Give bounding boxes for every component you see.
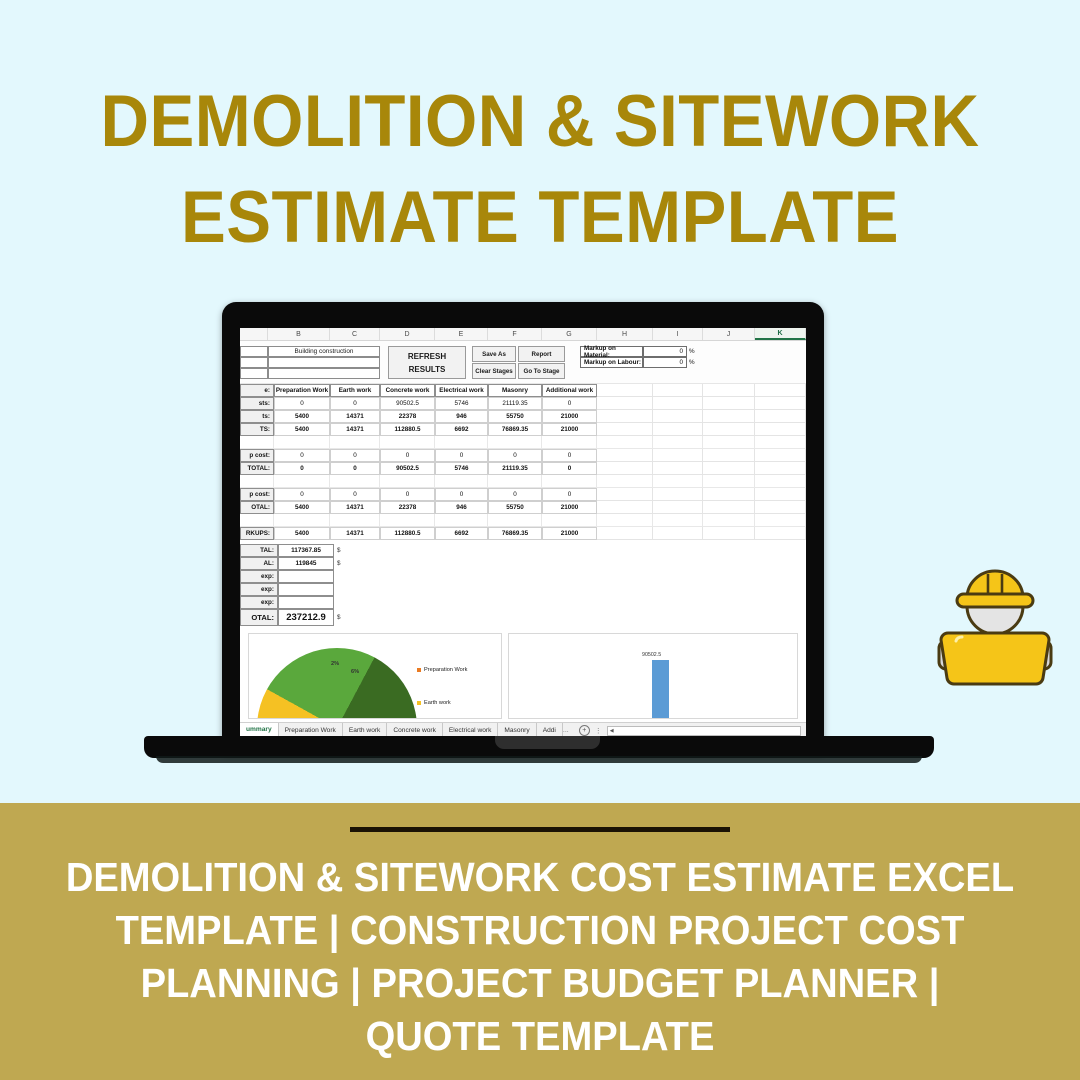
- table-cell[interactable]: 0: [274, 488, 330, 501]
- table-cell-empty[interactable]: [597, 475, 653, 488]
- caption-line-1: DEMOLITION & SITEWORK COST ESTIMATE EXCE…: [38, 851, 1042, 904]
- table-cell-empty[interactable]: [703, 462, 755, 475]
- markup-material-label: Markup on Material:: [580, 346, 643, 357]
- horizontal-scrollbar[interactable]: ◀: [607, 726, 801, 736]
- stage-header-prep: Preparation Work: [274, 384, 330, 397]
- table-cell[interactable]: 0: [274, 462, 330, 475]
- table-cell[interactable]: 5400: [274, 423, 330, 436]
- construction-worker-laptop-icon: [930, 538, 1060, 693]
- caption-divider: [350, 827, 730, 832]
- total-label: exp:: [240, 596, 278, 609]
- excel-spreadsheet: B C D E F G H I J K Building construct: [240, 328, 806, 742]
- total-value[interactable]: [278, 596, 334, 609]
- bar-concrete-work: [652, 660, 669, 718]
- legend-swatch-preparation: [417, 668, 421, 672]
- row-label: ts:: [240, 410, 274, 423]
- table-cell[interactable]: 5400: [274, 527, 330, 540]
- currency-symbol: $: [334, 544, 348, 557]
- worker-svg: [930, 538, 1060, 693]
- grid-blank-h[interactable]: [597, 384, 653, 397]
- table-cell-empty[interactable]: [597, 488, 653, 501]
- pie-legend-item-preparation: Preparation Work: [417, 667, 467, 673]
- table-row: OTAL:540014371223789465575021000: [240, 501, 806, 514]
- markup-labour-input[interactable]: 0: [643, 357, 687, 368]
- scroll-left-arrow[interactable]: ◀: [608, 728, 614, 734]
- column-header-corner[interactable]: [240, 328, 268, 340]
- table-cell-empty[interactable]: [597, 449, 653, 462]
- table-cell-empty[interactable]: [703, 475, 755, 488]
- table-cell[interactable]: 0: [330, 488, 380, 501]
- table-cell[interactable]: 5746: [435, 462, 488, 475]
- legend-label-earth: Earth work: [424, 700, 451, 706]
- table-cell[interactable]: 0: [330, 462, 380, 475]
- table-cell-empty[interactable]: [330, 436, 380, 449]
- report-button[interactable]: Report: [518, 346, 565, 362]
- stage-header-electrical: Electrical work: [435, 384, 488, 397]
- table-cell[interactable]: 0: [488, 488, 542, 501]
- table-cell[interactable]: 21119.35: [488, 462, 542, 475]
- table-cell-empty[interactable]: [703, 423, 755, 436]
- grid-blank-i[interactable]: [653, 384, 703, 397]
- row-label: sts:: [240, 397, 274, 410]
- grand-total-row: OTAL:237212.9$: [240, 609, 806, 626]
- column-header-j[interactable]: J: [703, 328, 755, 340]
- clear-stages-button[interactable]: Clear Stages: [472, 363, 516, 379]
- table-cell-empty[interactable]: [240, 436, 274, 449]
- total-label: exp:: [240, 570, 278, 583]
- table-cell-empty[interactable]: [703, 527, 755, 540]
- table-cell[interactable]: 0: [330, 449, 380, 462]
- table-cell-empty[interactable]: [380, 514, 435, 527]
- table-cell[interactable]: 0: [435, 449, 488, 462]
- table-cell-empty[interactable]: [703, 397, 755, 410]
- sheet-toolbar-band: Building construction REFRESH RESULTS Sa…: [240, 341, 806, 384]
- total-label: exp:: [240, 583, 278, 596]
- table-cell[interactable]: 6692: [435, 527, 488, 540]
- column-header-b[interactable]: B: [268, 328, 330, 340]
- table-cell-empty[interactable]: [274, 475, 330, 488]
- caption-band: DEMOLITION & SITEWORK COST ESTIMATE EXCE…: [0, 803, 1080, 1080]
- row-label: TOTAL:: [240, 462, 274, 475]
- table-cell-empty[interactable]: [653, 501, 703, 514]
- total-label: TAL:: [240, 544, 278, 557]
- stage-header-earth: Earth work: [330, 384, 380, 397]
- helmet-brim: [957, 594, 1033, 607]
- table-cell-empty[interactable]: [703, 436, 755, 449]
- table-cell-empty[interactable]: [597, 527, 653, 540]
- table-cell-empty[interactable]: [653, 514, 703, 527]
- table-cell-empty[interactable]: [240, 475, 274, 488]
- grid-blank-j[interactable]: [703, 384, 755, 397]
- table-cell-empty[interactable]: [330, 514, 380, 527]
- column-header-e[interactable]: E: [435, 328, 488, 340]
- table-cell-empty[interactable]: [597, 423, 653, 436]
- table-cell-empty[interactable]: [703, 488, 755, 501]
- add-sheet-icon[interactable]: +: [579, 725, 590, 736]
- table-cell[interactable]: 14371: [330, 423, 380, 436]
- table-cell[interactable]: 21000: [542, 501, 597, 514]
- stage-header-row: e: Preparation Work Earth work Concrete …: [240, 384, 806, 397]
- row-label: RKUPS:: [240, 527, 274, 540]
- caption-line-4: QUOTE TEMPLATE: [38, 1010, 1042, 1063]
- column-header-c[interactable]: C: [330, 328, 380, 340]
- table-cell[interactable]: 14371: [330, 527, 380, 540]
- table-cell-empty[interactable]: [653, 527, 703, 540]
- table-cell[interactable]: 0: [380, 449, 435, 462]
- column-header-g[interactable]: G: [542, 328, 597, 340]
- total-row: exp:: [240, 570, 806, 583]
- table-row: p cost:000000: [240, 488, 806, 501]
- grid-spacer-row: [240, 514, 806, 527]
- cost-distribution-pie-chart[interactable]: 2% 6% Preparation Work Earth work: [248, 633, 502, 719]
- table-cell[interactable]: 21000: [542, 410, 597, 423]
- table-cell[interactable]: 21000: [542, 527, 597, 540]
- row-label: p cost:: [240, 449, 274, 462]
- table-cell-empty[interactable]: [380, 436, 435, 449]
- stage-row-label: e:: [240, 384, 274, 397]
- total-row: exp:: [240, 583, 806, 596]
- table-cell-empty[interactable]: [274, 514, 330, 527]
- table-cell-empty[interactable]: [653, 436, 703, 449]
- table-cell[interactable]: 22378: [380, 501, 435, 514]
- table-cell-empty[interactable]: [274, 436, 330, 449]
- data-rows-container: sts:0090502.5574621119.350ts:54001437122…: [240, 397, 806, 540]
- table-cell-empty[interactable]: [755, 527, 806, 540]
- column-header-row: B C D E F G H I J K: [240, 328, 806, 341]
- caption-text: DEMOLITION & SITEWORK COST ESTIMATE EXCE…: [0, 851, 1080, 1063]
- table-cell[interactable]: 21000: [542, 423, 597, 436]
- table-cell[interactable]: 5746: [435, 397, 488, 410]
- table-cell-empty[interactable]: [597, 514, 653, 527]
- total-value[interactable]: 117367.85: [278, 544, 334, 557]
- pie-legend-item-earth: Earth work: [417, 700, 451, 706]
- grid-spacer-row: [240, 475, 806, 488]
- table-cell-empty[interactable]: [653, 449, 703, 462]
- table-cell[interactable]: 946: [435, 501, 488, 514]
- total-row: AL:119845$: [240, 557, 806, 570]
- table-cell[interactable]: 21119.35: [488, 397, 542, 410]
- summary-data-grid: e: Preparation Work Earth work Concrete …: [240, 384, 806, 540]
- project-field-3[interactable]: [268, 368, 380, 379]
- total-row: exp:: [240, 596, 806, 609]
- table-cell-empty[interactable]: [435, 514, 488, 527]
- project-name-field[interactable]: Building construction: [268, 346, 380, 357]
- tab-menu-icon[interactable]: ⋮: [595, 727, 602, 735]
- blank-cell-a2[interactable]: [240, 357, 268, 368]
- table-cell[interactable]: 5400: [274, 501, 330, 514]
- legend-label-preparation: Preparation Work: [424, 667, 467, 673]
- table-cell[interactable]: 0: [274, 397, 330, 410]
- total-row: TAL:117367.85$: [240, 544, 806, 557]
- row-label: OTAL:: [240, 501, 274, 514]
- table-cell[interactable]: 0: [488, 449, 542, 462]
- grid-blank-k[interactable]: [755, 384, 806, 397]
- markup-material-unit: %: [689, 346, 695, 357]
- laptop-base-shadow: [156, 756, 922, 763]
- table-cell-empty[interactable]: [542, 514, 597, 527]
- total-value[interactable]: 119845: [278, 557, 334, 570]
- table-cell[interactable]: 76869.35: [488, 527, 542, 540]
- currency-symbol: $: [334, 609, 348, 626]
- table-cell-empty[interactable]: [435, 475, 488, 488]
- laptop-mockup: B C D E F G H I J K Building construct: [140, 296, 940, 776]
- table-row: TOTAL:0090502.5574621119.350: [240, 462, 806, 475]
- table-cell-empty[interactable]: [703, 514, 755, 527]
- column-header-f[interactable]: F: [488, 328, 542, 340]
- pie-pct-earth: 6%: [351, 669, 359, 675]
- table-cell[interactable]: 112880.5: [380, 423, 435, 436]
- table-row: p cost:000000: [240, 449, 806, 462]
- blank-cell-a1[interactable]: [240, 346, 268, 357]
- poster-canvas: DEMOLITION & SITEWORK ESTIMATE TEMPLATE …: [0, 0, 1080, 1080]
- table-cell[interactable]: 0: [542, 397, 597, 410]
- table-cell[interactable]: 5400: [274, 410, 330, 423]
- total-label: AL:: [240, 557, 278, 570]
- pie-slices: [257, 648, 417, 719]
- table-cell[interactable]: 946: [435, 410, 488, 423]
- go-to-stage-button[interactable]: Go To Stage: [518, 363, 565, 379]
- stage-header-masonry: Masonry: [488, 384, 542, 397]
- table-cell[interactable]: 0: [542, 488, 597, 501]
- column-header-i[interactable]: I: [653, 328, 703, 340]
- currency-symbol: $: [334, 557, 348, 570]
- refresh-label-line1: REFRESH: [408, 350, 446, 363]
- total-value[interactable]: 237212.9: [278, 609, 334, 626]
- row-label: TS:: [240, 423, 274, 436]
- currency-symbol: [334, 583, 348, 596]
- table-cell[interactable]: 90502.5: [380, 462, 435, 475]
- table-cell-empty[interactable]: [597, 462, 653, 475]
- currency-symbol: [334, 570, 348, 583]
- totals-block: TAL:117367.85$AL:119845$exp:exp:exp:OTAL…: [240, 544, 806, 626]
- table-cell-empty[interactable]: [653, 462, 703, 475]
- title-line-1: DEMOLITION & SITEWORK: [43, 74, 1037, 170]
- table-cell-empty[interactable]: [435, 436, 488, 449]
- column-header-h[interactable]: H: [597, 328, 653, 340]
- table-cell[interactable]: 0: [542, 462, 597, 475]
- table-cell[interactable]: 14371: [330, 410, 380, 423]
- table-cell-empty[interactable]: [755, 397, 806, 410]
- refresh-results-button[interactable]: REFRESH RESULTS: [388, 346, 466, 379]
- refresh-label-line2: RESULTS: [409, 363, 446, 376]
- laptop-trackpad-notch: [495, 736, 600, 749]
- pie-graphic: 2% 6%: [257, 648, 417, 719]
- table-cell-empty[interactable]: [542, 436, 597, 449]
- table-cell[interactable]: 0: [274, 449, 330, 462]
- table-cell[interactable]: 76869.35: [488, 423, 542, 436]
- table-cell-empty[interactable]: [488, 436, 542, 449]
- table-cell-empty[interactable]: [653, 475, 703, 488]
- total-value[interactable]: [278, 570, 334, 583]
- table-cell[interactable]: 14371: [330, 501, 380, 514]
- grid-spacer-row: [240, 436, 806, 449]
- table-cell[interactable]: 112880.5: [380, 527, 435, 540]
- markup-material-input[interactable]: 0: [643, 346, 687, 357]
- table-cell[interactable]: 0: [380, 488, 435, 501]
- table-cell-empty[interactable]: [240, 514, 274, 527]
- table-cell[interactable]: 90502.5: [380, 397, 435, 410]
- project-field-2[interactable]: [268, 357, 380, 368]
- stage-header-additional: Additional work: [542, 384, 597, 397]
- table-cell-empty[interactable]: [488, 514, 542, 527]
- table-cell[interactable]: 0: [542, 449, 597, 462]
- table-cell-empty[interactable]: [703, 410, 755, 423]
- caption-line-2: TEMPLATE | CONSTRUCTION PROJECT COST: [38, 904, 1042, 957]
- row-label: p cost:: [240, 488, 274, 501]
- tab-overflow-dots[interactable]: ...: [563, 727, 569, 734]
- pie-pct-prep: 2%: [331, 661, 339, 667]
- markup-labour-label: Markup on Labour:: [580, 357, 643, 368]
- table-cell[interactable]: 55750: [488, 501, 542, 514]
- table-cell-empty[interactable]: [703, 501, 755, 514]
- table-cell-empty[interactable]: [597, 436, 653, 449]
- table-cell-empty[interactable]: [755, 462, 806, 475]
- table-cell-empty[interactable]: [653, 488, 703, 501]
- table-cell-empty[interactable]: [755, 501, 806, 514]
- table-cell-empty[interactable]: [755, 410, 806, 423]
- title-line-2: ESTIMATE TEMPLATE: [43, 170, 1037, 266]
- table-cell-empty[interactable]: [755, 475, 806, 488]
- page-title: DEMOLITION & SITEWORK ESTIMATE TEMPLATE: [0, 74, 1080, 266]
- save-as-button[interactable]: Save As: [472, 346, 516, 362]
- legend-swatch-earth: [417, 701, 421, 705]
- table-cell[interactable]: 0: [330, 397, 380, 410]
- table-cell-empty[interactable]: [380, 475, 435, 488]
- table-cell-empty[interactable]: [653, 423, 703, 436]
- stage-cost-bar-chart[interactable]: 90502.5: [508, 633, 798, 719]
- table-cell-empty[interactable]: [755, 449, 806, 462]
- table-cell-empty[interactable]: [653, 397, 703, 410]
- bar-data-label: 90502.5: [642, 652, 661, 658]
- table-cell-empty[interactable]: [755, 514, 806, 527]
- currency-symbol: [334, 596, 348, 609]
- table-cell-empty[interactable]: [597, 410, 653, 423]
- table-cell[interactable]: 0: [435, 488, 488, 501]
- table-row: sts:0090502.5574621119.350: [240, 397, 806, 410]
- table-cell-empty[interactable]: [653, 410, 703, 423]
- caption-line-3: PLANNING | PROJECT BUDGET PLANNER |: [38, 957, 1042, 1010]
- table-cell-empty[interactable]: [755, 488, 806, 501]
- table-cell-empty[interactable]: [488, 475, 542, 488]
- laptop-screen: B C D E F G H I J K Building construct: [240, 328, 806, 742]
- table-cell[interactable]: 6692: [435, 423, 488, 436]
- charts-area: 2% 6% Preparation Work Earth work: [240, 633, 806, 719]
- markup-labour-unit: %: [689, 357, 695, 368]
- total-label: OTAL:: [240, 609, 278, 626]
- table-cell[interactable]: 22378: [380, 410, 435, 423]
- table-row: TS:540014371112880.5669276869.3521000: [240, 423, 806, 436]
- table-cell-empty[interactable]: [597, 501, 653, 514]
- table-cell-empty[interactable]: [703, 449, 755, 462]
- blank-cell-a3[interactable]: [240, 368, 268, 379]
- column-header-k[interactable]: K: [755, 328, 806, 340]
- table-cell-empty[interactable]: [597, 397, 653, 410]
- table-cell[interactable]: 55750: [488, 410, 542, 423]
- table-cell-empty[interactable]: [755, 423, 806, 436]
- total-value[interactable]: [278, 583, 334, 596]
- table-row: RKUPS:540014371112880.5669276869.3521000: [240, 527, 806, 540]
- table-cell-empty[interactable]: [755, 436, 806, 449]
- stage-header-concrete: Concrete work: [380, 384, 435, 397]
- table-row: ts:540014371223789465575021000: [240, 410, 806, 423]
- table-cell-empty[interactable]: [330, 475, 380, 488]
- table-cell-empty[interactable]: [542, 475, 597, 488]
- column-header-d[interactable]: D: [380, 328, 435, 340]
